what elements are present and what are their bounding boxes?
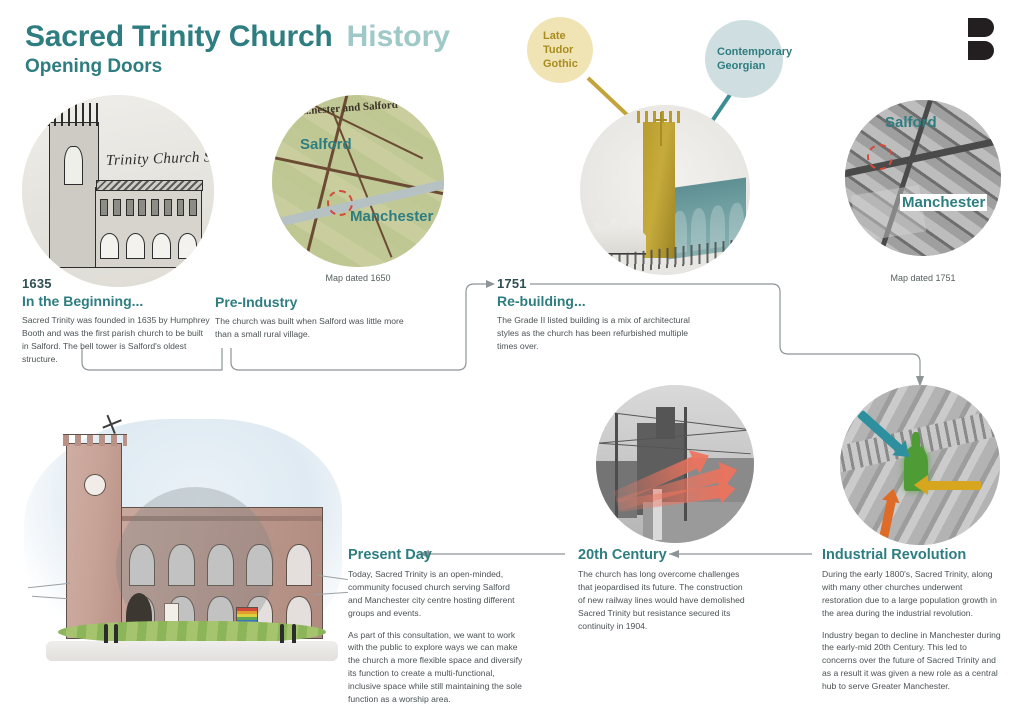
timeline-block-in-the-beginning: 1635 In the Beginning... Sacred Trinity … bbox=[22, 276, 212, 366]
map-1650-caption: Map dated 1650 bbox=[258, 273, 458, 283]
poster-header: Sacred Trinity Church History Opening Do… bbox=[25, 20, 450, 78]
map-1650: ...nester and Salford bbox=[272, 95, 444, 267]
callout-line-1: Contemporary bbox=[717, 46, 792, 58]
timeline-block-present-day: Present Day Today, Sacred Trinity is an … bbox=[348, 545, 526, 706]
year-label: 1751 bbox=[497, 276, 692, 291]
block-body: The church has long overcome challenges … bbox=[578, 568, 748, 632]
sacred-trinity-present-day-illustration bbox=[18, 415, 348, 665]
engraving-caption-script: Trinity Church Sa. bbox=[106, 149, 214, 170]
year-label: 1635 bbox=[22, 276, 212, 291]
map-1650-label-salford: Salford bbox=[300, 136, 352, 153]
map-1751-caption: Map dated 1751 bbox=[823, 273, 1023, 283]
block-heading: Re-building... bbox=[497, 293, 692, 309]
block-body: During the early 1800's, Sacred Trinity,… bbox=[822, 568, 1002, 693]
block-heading: Present Day bbox=[348, 547, 526, 563]
block-heading: 20th Century bbox=[578, 547, 748, 563]
callout-contemporary-georgian: Contemporary Georgian bbox=[705, 20, 783, 98]
map-1751-label-salford: Salford bbox=[885, 114, 937, 131]
callout-line-1: Late bbox=[543, 30, 566, 42]
timeline-block-re-building: 1751 Re-building... The Grade II listed … bbox=[497, 276, 692, 353]
block-heading: Pre-Industry bbox=[215, 294, 415, 310]
timeline-block-industrial-revolution: Industrial Revolution During the early 1… bbox=[822, 545, 1002, 693]
map-1650-label-manchester: Manchester bbox=[350, 208, 433, 225]
brand-b-logo bbox=[968, 18, 1002, 62]
trinity-church-engraving: Trinity Church Sa. bbox=[22, 95, 214, 287]
manchester-aerial-industrial-photo bbox=[840, 385, 1000, 545]
title-row: Sacred Trinity Church History bbox=[25, 20, 450, 54]
block-body: The church was built when Salford was li… bbox=[215, 315, 415, 341]
callout-line-3: Gothic bbox=[543, 58, 578, 70]
page-title: Sacred Trinity Church bbox=[25, 20, 333, 54]
callout-line-2: Georgian bbox=[717, 60, 765, 72]
block-body: The Grade II listed building is a mix of… bbox=[497, 314, 692, 353]
timeline-block-20th-century: 20th Century The church has long overcom… bbox=[578, 545, 748, 632]
map-1751-label-manchester: Manchester bbox=[900, 194, 987, 211]
block-body: Today, Sacred Trinity is an open-minded,… bbox=[348, 568, 526, 706]
infographic-poster: Sacred Trinity Church History Opening Do… bbox=[0, 0, 1024, 723]
page-subtitle: Opening Doors bbox=[25, 56, 450, 78]
block-heading: In the Beginning... bbox=[22, 293, 212, 309]
block-body: Sacred Trinity was founded in 1635 by Hu… bbox=[22, 314, 212, 366]
sacred-trinity-architecture-illustration bbox=[580, 105, 750, 275]
callout-line-2: Tudor bbox=[543, 44, 573, 56]
callout-late-tudor-gothic: Late Tudor Gothic bbox=[527, 17, 593, 83]
page-title-accent: History bbox=[347, 20, 450, 54]
timeline-block-pre-industry: Pre-Industry The church was built when S… bbox=[215, 292, 415, 341]
sacred-trinity-street-photo-20th-century bbox=[596, 385, 754, 543]
block-heading: Industrial Revolution bbox=[822, 547, 1002, 563]
